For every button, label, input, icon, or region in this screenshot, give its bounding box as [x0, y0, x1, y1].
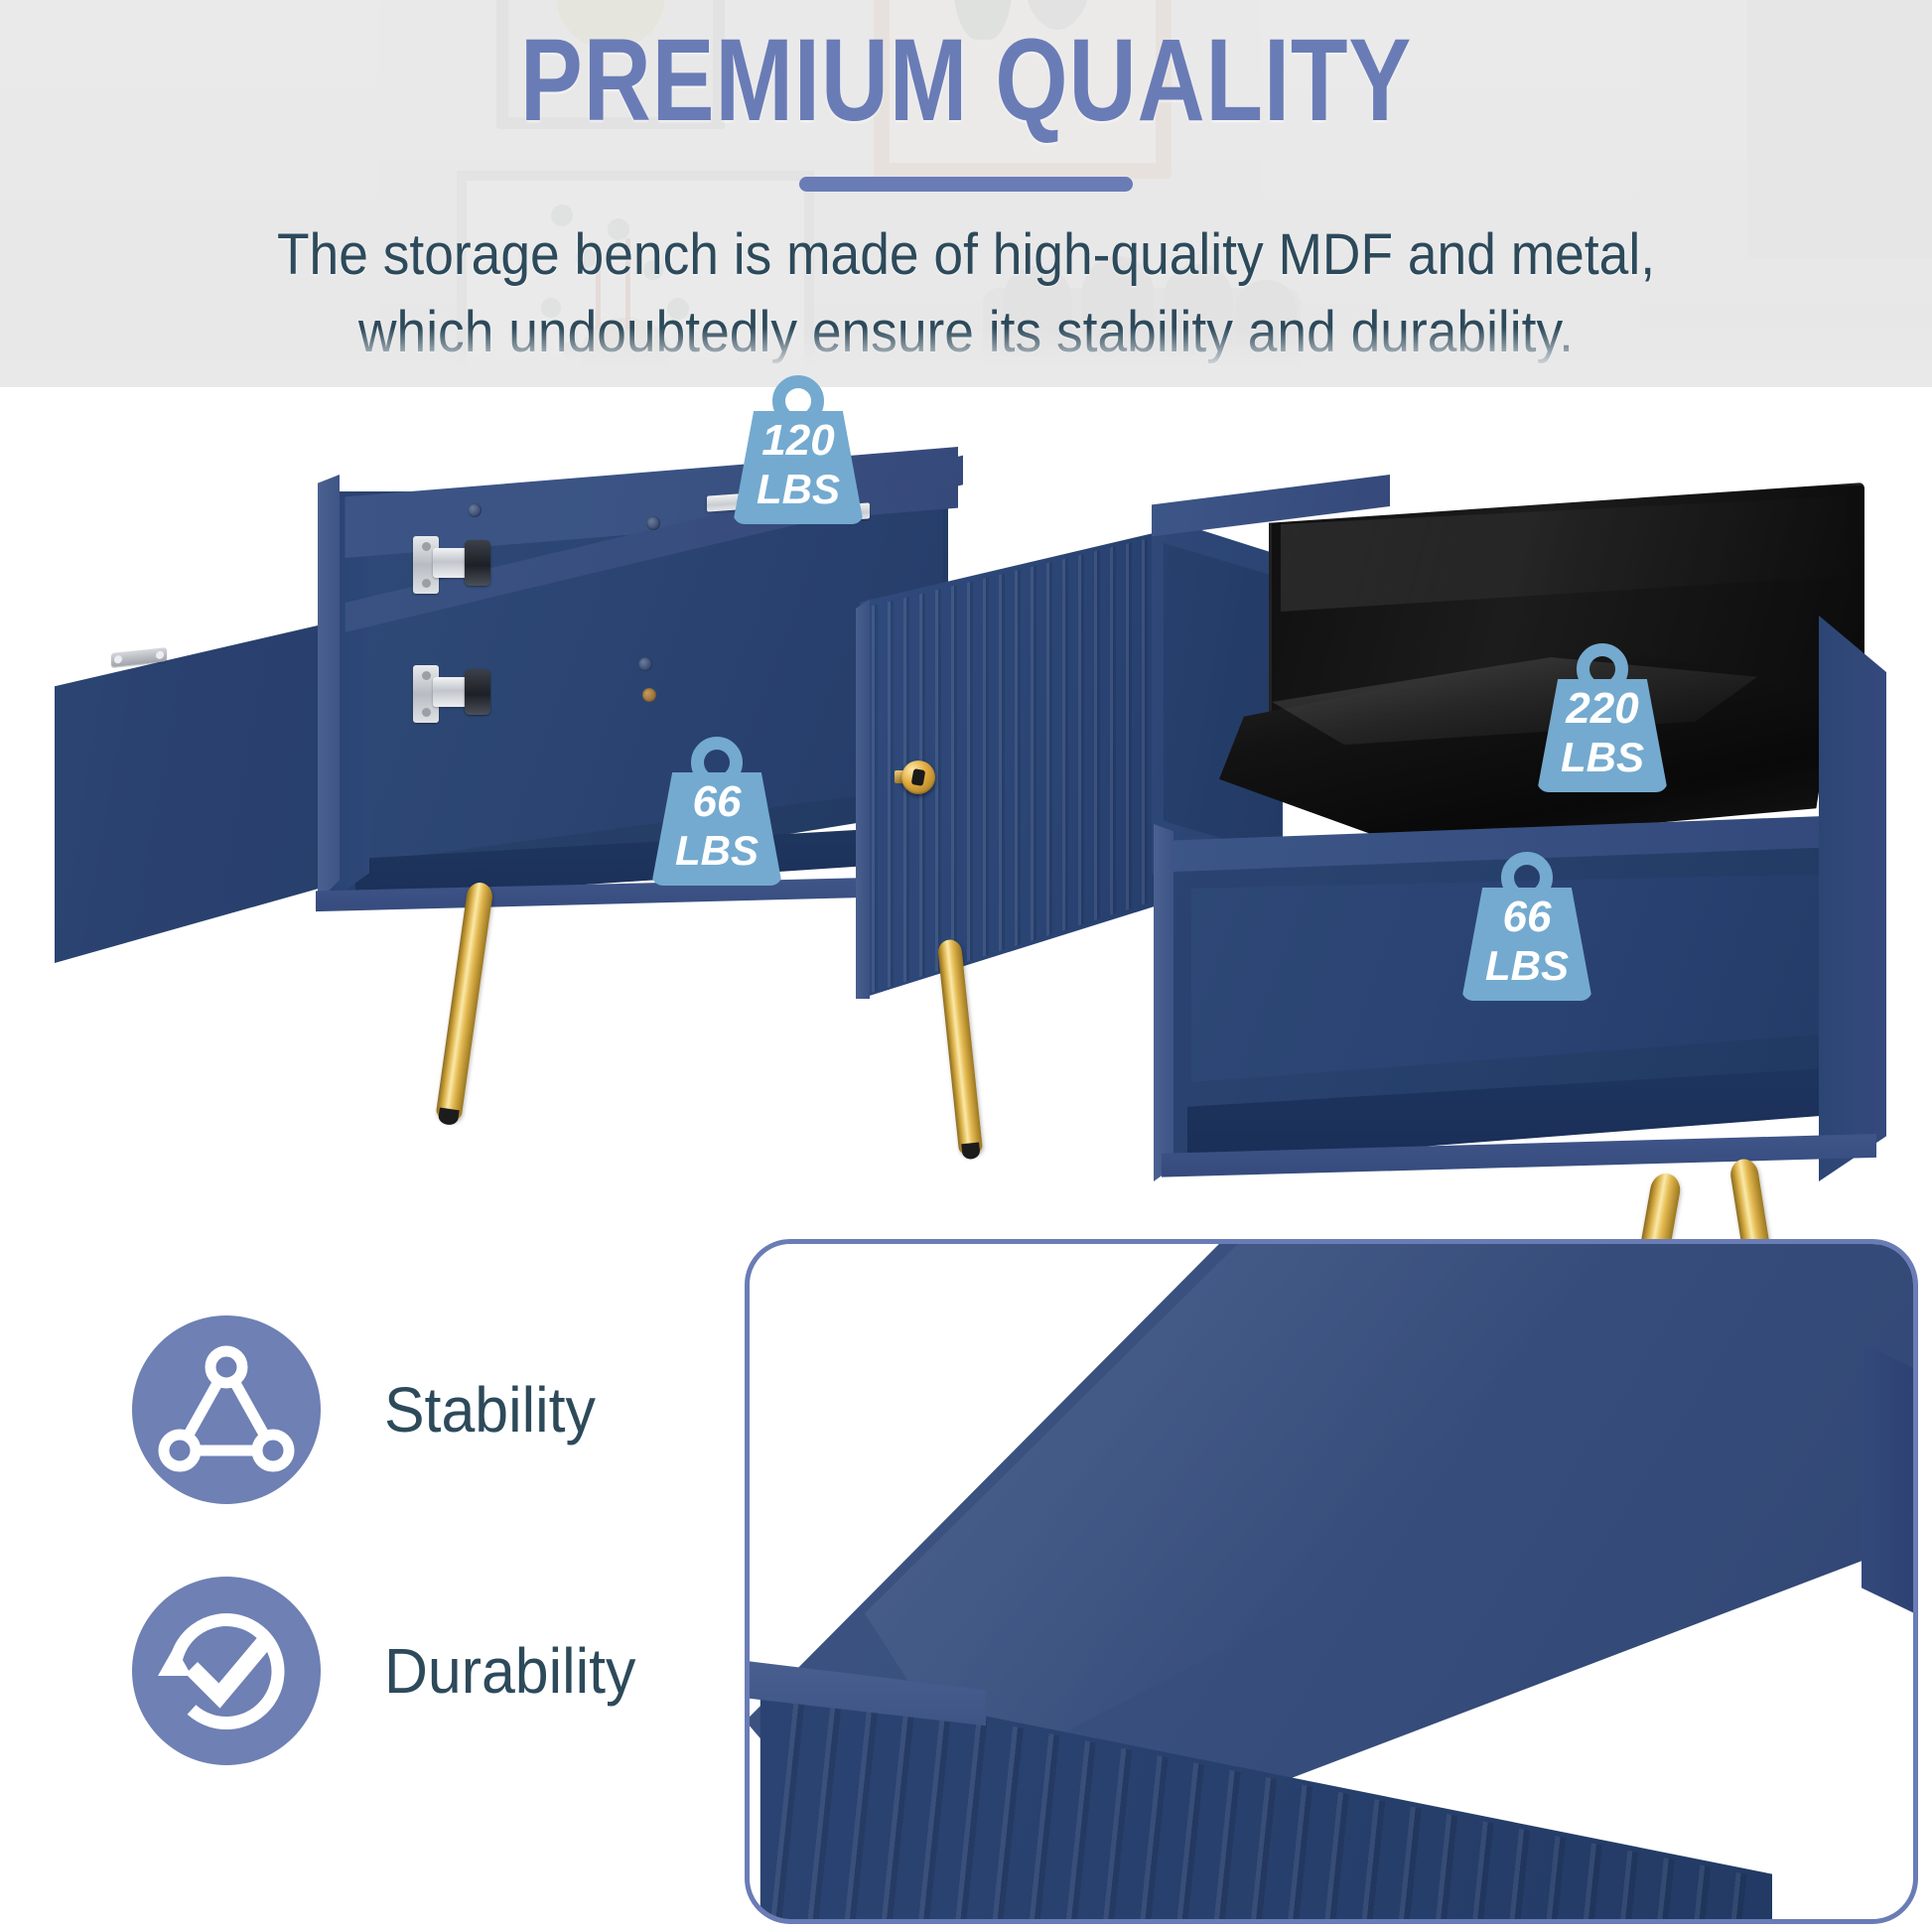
feature-label: Stability	[384, 1373, 596, 1447]
title-divider	[799, 177, 1133, 192]
feature-stability: Stability	[132, 1315, 607, 1504]
cam-screw-icon	[468, 503, 482, 517]
gold-leg	[435, 881, 493, 1122]
triangle-nodes-icon	[132, 1315, 321, 1504]
bench-front-edge	[1154, 824, 1173, 1181]
weight-value: 120	[733, 419, 864, 463]
page-title: PREMIUM QUALITY	[194, 22, 1739, 139]
feature-label: Durability	[384, 1634, 635, 1708]
cabinet-hinge-icon	[413, 657, 490, 729]
cabinet-hinge-icon	[413, 528, 490, 600]
weight-unit: LBS	[1461, 945, 1592, 987]
banner-fade	[0, 328, 1932, 387]
cam-screw-icon	[646, 516, 660, 530]
feature-icon-badge	[132, 1315, 321, 1504]
weight-value: 220	[1537, 687, 1668, 731]
detail-closeup-panel	[745, 1239, 1918, 1924]
cam-screw-icon	[638, 657, 652, 671]
cabinet-left-door	[55, 625, 318, 963]
weight-value: 66	[1461, 896, 1592, 939]
feature-durability: Durability	[132, 1577, 649, 1765]
gold-leg	[937, 938, 984, 1156]
weight-unit: LBS	[1537, 737, 1668, 778]
weight-badge-cabinet-top: 120 LBS	[733, 375, 864, 524]
weight-unit: LBS	[651, 830, 782, 872]
header-banner: PREMIUM QUALITY The storage bench is mad…	[0, 0, 1932, 387]
weight-badge-bench-seat: 220 LBS	[1537, 643, 1668, 792]
weight-unit: LBS	[733, 469, 864, 510]
cam-screw-icon	[642, 688, 656, 702]
weight-badge-bench-cubby: 66 LBS	[1461, 852, 1592, 1001]
refresh-check-icon	[132, 1577, 321, 1765]
subtitle-line-1: The storage bench is made of high-qualit…	[277, 222, 1655, 287]
weight-badge-cabinet-interior: 66 LBS	[651, 737, 782, 886]
closeup-right-edge	[1862, 1343, 1918, 1621]
bench-right-side-panel	[1819, 616, 1886, 1181]
product-illustration	[0, 387, 1932, 1281]
cabinet-front-edge	[318, 475, 340, 901]
weight-value: 66	[651, 780, 782, 824]
feature-icon-badge	[132, 1577, 321, 1765]
